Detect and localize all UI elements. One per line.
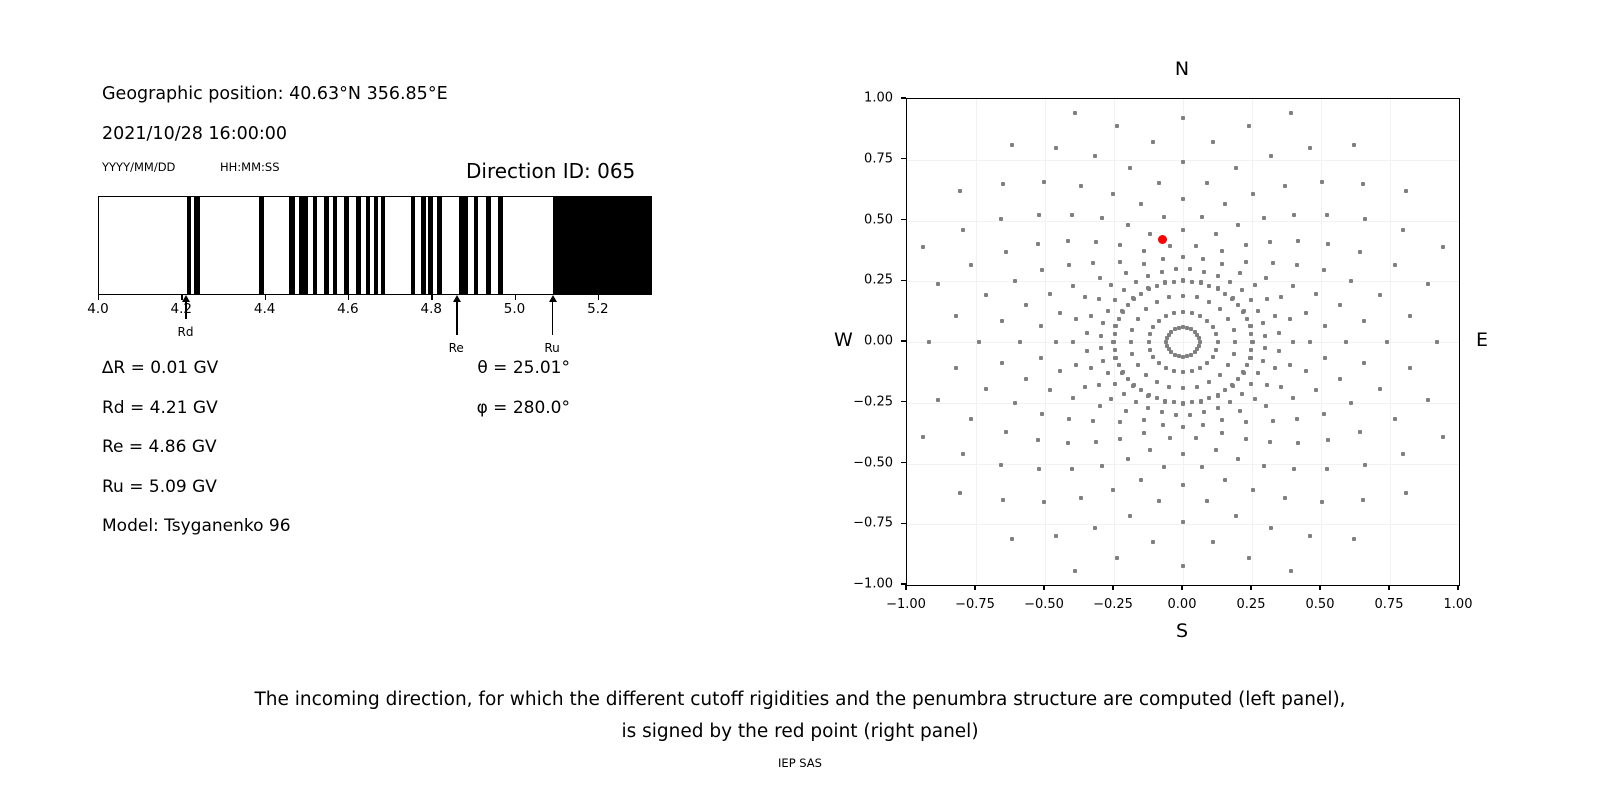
direction-point: [1124, 271, 1128, 275]
direction-point: [1308, 146, 1312, 150]
direction-point: [1085, 349, 1089, 353]
penumbra-band: [324, 197, 329, 294]
direction-point: [1393, 263, 1397, 267]
direction-point: [1004, 430, 1008, 434]
direction-point: [1199, 400, 1203, 404]
direction-point: [1188, 413, 1192, 417]
direction-scatter-plot: [906, 98, 1460, 586]
penumbra-band: [381, 197, 385, 294]
cutoff-marker-label-rd: Rd: [177, 325, 193, 339]
direction-point: [984, 293, 988, 297]
y-axis-tick: [901, 158, 906, 159]
direction-point: [1181, 452, 1185, 456]
direction-point: [1168, 244, 1172, 248]
direction-point: [1134, 400, 1138, 404]
direction-point: [1101, 359, 1105, 363]
direction-point: [958, 491, 962, 495]
direction-point: [1036, 438, 1040, 442]
direction-point: [1128, 514, 1132, 518]
direction-point: [1194, 244, 1198, 248]
y-axis-tick: [901, 401, 906, 402]
direction-point: [1228, 400, 1232, 404]
direction-point: [1352, 537, 1356, 541]
penumbra-band: [356, 197, 361, 294]
direction-point: [1216, 340, 1220, 344]
direction-point: [1256, 371, 1260, 375]
direction-point: [1181, 255, 1185, 259]
direction-point: [1265, 297, 1269, 301]
direction-point: [1181, 564, 1185, 568]
y-axis-tick: [901, 219, 906, 220]
y-axis-tick-label: −0.75: [853, 516, 901, 531]
direction-point: [1190, 369, 1194, 373]
figure-caption: The incoming direction, for which the di…: [0, 684, 1600, 748]
direction-point: [1066, 441, 1070, 445]
direction-point: [969, 417, 973, 421]
y-axis-tick: [901, 280, 906, 281]
direction-point: [1263, 346, 1267, 350]
compass-label-north: N: [1175, 58, 1189, 80]
rigidity-tick-label: 4.6: [337, 301, 358, 317]
direction-point: [1261, 359, 1265, 363]
direction-point: [1136, 317, 1140, 321]
direction-point: [1157, 181, 1161, 185]
direction-point: [1277, 349, 1281, 353]
direction-point: [1231, 296, 1235, 300]
direction-point: [1205, 319, 1209, 323]
direction-point: [1223, 388, 1227, 392]
direction-point: [1100, 216, 1104, 220]
geographic-position-label: Geographic position: 40.63°N 356.85°E: [102, 84, 448, 104]
direction-point: [1185, 354, 1189, 358]
direction-point: [1142, 249, 1146, 253]
angle-parameter-value: φ = 280.0°: [477, 398, 570, 418]
direction-point: [1236, 223, 1240, 227]
direction-point: [1195, 385, 1199, 389]
direction-point: [1001, 182, 1005, 186]
direction-point: [1322, 268, 1326, 272]
direction-point: [1363, 463, 1367, 467]
penumbra-band: [553, 197, 652, 294]
x-axis-tick-label: 1.00: [1444, 590, 1473, 612]
direction-point: [1151, 140, 1155, 144]
grid-line-horizontal: [907, 464, 1459, 465]
direction-point: [1136, 363, 1140, 367]
direction-point: [1211, 355, 1215, 359]
direction-point: [1155, 396, 1159, 400]
direction-point: [1295, 263, 1299, 267]
y-axis-tick: [901, 523, 906, 524]
direction-point: [1000, 361, 1004, 365]
direction-point: [1240, 392, 1244, 396]
direction-point: [1155, 284, 1159, 288]
rigidity-tick: [265, 295, 266, 300]
compass-label-south: S: [1176, 620, 1188, 642]
direction-point: [1251, 340, 1255, 344]
selected-direction-marker: [1158, 235, 1167, 244]
direction-point: [1146, 286, 1150, 290]
direction-point: [1361, 182, 1365, 186]
direction-point: [1139, 478, 1143, 482]
direction-point: [1067, 263, 1071, 267]
direction-point: [1223, 202, 1227, 206]
penumbra-band: [374, 197, 379, 294]
rigidity-tick: [348, 295, 349, 300]
direction-point: [1314, 292, 1318, 296]
rigidity-tick: [431, 295, 432, 300]
rigidity-tick: [98, 295, 99, 300]
direction-point: [1130, 328, 1134, 332]
direction-point: [1249, 348, 1253, 352]
direction-point: [1146, 274, 1150, 278]
direction-point: [1089, 314, 1093, 318]
direction-point: [1216, 286, 1220, 290]
direction-point: [1109, 283, 1113, 287]
direction-point: [1200, 465, 1204, 469]
direction-point: [1118, 420, 1122, 424]
direction-point: [1296, 239, 1300, 243]
cutoff-marker-line-ru: [552, 297, 553, 335]
direction-point: [1207, 396, 1211, 400]
x-axis-tick-label: 0.25: [1237, 590, 1266, 612]
direction-point: [1098, 404, 1102, 408]
direction-point: [1269, 154, 1273, 158]
direction-point: [1228, 280, 1232, 284]
direction-point: [1113, 382, 1117, 386]
direction-point: [1247, 124, 1251, 128]
cutoff-marker-label-re: Re: [449, 341, 464, 355]
direction-point: [1091, 261, 1095, 265]
parameter-value: Re = 4.86 GV: [102, 437, 217, 457]
y-axis-tick-label: 0.50: [864, 212, 901, 227]
x-axis-tick-label: −0.50: [1024, 590, 1064, 612]
direction-point: [1220, 249, 1224, 253]
direction-point: [1408, 314, 1412, 318]
direction-point: [1164, 366, 1168, 370]
penumbra-band: [194, 197, 201, 294]
penumbra-band: [421, 197, 426, 294]
direction-point: [1181, 483, 1185, 487]
direction-point: [1172, 280, 1176, 284]
direction-point: [1157, 361, 1161, 365]
direction-point: [1018, 340, 1022, 344]
angle-parameter-value: θ = 25.01°: [477, 358, 570, 378]
direction-point: [1358, 250, 1362, 254]
direction-point: [999, 217, 1003, 221]
direction-point: [1190, 280, 1194, 284]
direction-point: [1295, 417, 1299, 421]
direction-point: [1181, 386, 1185, 390]
direction-point: [1099, 346, 1103, 350]
direction-point: [1172, 311, 1176, 315]
y-axis-tick-label: 0.00: [864, 334, 901, 349]
direction-point: [1325, 467, 1329, 471]
direction-point: [1128, 166, 1132, 170]
direction-point: [1308, 340, 1312, 344]
direction-point: [1037, 213, 1041, 217]
compass-label-west: W: [834, 329, 853, 351]
y-axis-tick: [901, 97, 906, 98]
direction-point: [1326, 438, 1330, 442]
direction-point: [1344, 340, 1348, 344]
penumbra-band: [187, 197, 191, 294]
direction-point: [1067, 417, 1071, 421]
direction-point: [1205, 499, 1209, 503]
x-axis-tick-label: −1.00: [886, 590, 926, 612]
direction-point: [1269, 526, 1273, 530]
direction-point: [1378, 387, 1382, 391]
direction-point: [1074, 363, 1078, 367]
direction-point: [1181, 278, 1185, 282]
direction-point: [1220, 262, 1224, 266]
direction-point: [1268, 440, 1272, 444]
direction-point: [1251, 488, 1255, 492]
direction-point: [977, 340, 981, 344]
direction-point: [1162, 465, 1166, 469]
direction-point: [1181, 425, 1185, 429]
direction-point: [1181, 355, 1185, 359]
direction-point: [1253, 283, 1257, 287]
direction-point: [1320, 180, 1324, 184]
direction-point: [1048, 292, 1052, 296]
datetime-label: 2021/10/28 16:00:00: [102, 124, 287, 144]
direction-point: [1001, 498, 1005, 502]
direction-point: [1126, 223, 1130, 227]
direction-point: [1279, 385, 1283, 389]
direction-point: [1097, 383, 1101, 387]
direction-point: [1134, 280, 1138, 284]
direction-point: [1160, 410, 1164, 414]
direction-point: [1042, 180, 1046, 184]
direction-point: [1168, 436, 1172, 440]
direction-point: [1118, 243, 1122, 247]
direction-point: [1190, 311, 1194, 315]
y-axis-tick-label: 1.00: [864, 91, 901, 106]
direction-point: [999, 463, 1003, 467]
direction-point: [1273, 314, 1277, 318]
direction-point: [1211, 540, 1215, 544]
direction-point: [1066, 239, 1070, 243]
penumbra-bar-chart: [98, 196, 652, 295]
direction-point: [1249, 382, 1253, 386]
direction-point: [1207, 284, 1211, 288]
direction-point: [1165, 344, 1169, 348]
parameter-value: Model: Tsyganenko 96: [102, 516, 291, 536]
direction-point: [1177, 326, 1181, 330]
direction-point: [1273, 366, 1277, 370]
direction-point: [1426, 282, 1430, 286]
direction-point: [1164, 340, 1168, 344]
cutoff-marker-arrow-ru: [549, 295, 557, 302]
direction-point: [1085, 331, 1089, 335]
direction-point: [1232, 352, 1236, 356]
direction-point: [1155, 300, 1159, 304]
direction-point: [1079, 496, 1083, 500]
direction-point: [1126, 303, 1130, 307]
direction-point: [1161, 423, 1165, 427]
direction-point: [1151, 355, 1155, 359]
direction-point: [1157, 319, 1161, 323]
direction-point: [1262, 216, 1266, 220]
penumbra-band: [428, 197, 433, 294]
direction-point: [1142, 418, 1146, 422]
direction-point: [1083, 385, 1087, 389]
direction-point: [1157, 499, 1161, 503]
direction-point: [1238, 409, 1242, 413]
direction-point: [1010, 537, 1014, 541]
direction-point: [1113, 298, 1117, 302]
direction-point: [1262, 464, 1266, 468]
direction-point: [1129, 340, 1133, 344]
direction-point: [1401, 228, 1405, 232]
direction-point: [1292, 213, 1296, 217]
direction-point: [1118, 437, 1122, 441]
caption-line-1: The incoming direction, for which the di…: [0, 684, 1600, 716]
direction-point: [1167, 347, 1171, 351]
direction-point: [1181, 370, 1185, 374]
direction-point: [921, 435, 925, 439]
direction-point: [1054, 534, 1058, 538]
direction-point: [1244, 260, 1248, 264]
direction-point: [1148, 332, 1152, 336]
direction-point: [1201, 423, 1205, 427]
direction-point: [1173, 353, 1177, 357]
penumbra-band: [289, 197, 294, 294]
direction-point: [1093, 526, 1097, 530]
direction-point: [1122, 392, 1126, 396]
direction-point: [1039, 356, 1043, 360]
direction-point: [1349, 401, 1353, 405]
direction-point: [1139, 292, 1143, 296]
grid-line-horizontal: [907, 524, 1459, 525]
cutoff-marker-arrow-rd: [182, 295, 190, 302]
direction-point: [1338, 303, 1342, 307]
direction-point: [1146, 406, 1150, 410]
direction-point: [1263, 334, 1267, 338]
direction-point: [1291, 396, 1295, 400]
penumbra-band: [437, 197, 442, 294]
direction-point: [954, 314, 958, 318]
footer-credit: IEP SAS: [0, 756, 1600, 770]
direction-point: [1181, 294, 1185, 298]
direction-point: [1155, 380, 1159, 384]
penumbra-band: [333, 197, 338, 294]
direction-point: [1244, 243, 1248, 247]
direction-point: [1148, 348, 1152, 352]
direction-point: [1004, 250, 1008, 254]
direction-point: [1205, 181, 1209, 185]
direction-point: [1073, 569, 1077, 573]
y-axis-tick-label: 0.75: [864, 151, 901, 166]
rigidity-tick-label: 4.0: [87, 301, 108, 317]
direction-point: [1207, 300, 1211, 304]
direction-point: [1131, 384, 1135, 388]
direction-point: [1083, 295, 1087, 299]
direction-point: [1099, 334, 1103, 338]
direction-point: [1323, 324, 1327, 328]
date-format-hint: YYYY/MM/DD: [102, 160, 175, 174]
direction-point: [1291, 284, 1295, 288]
grid-line-horizontal: [907, 221, 1459, 222]
direction-point: [1268, 240, 1272, 244]
direction-point: [1323, 356, 1327, 360]
direction-point: [1249, 332, 1253, 336]
direction-point: [1247, 556, 1251, 560]
direction-point: [1435, 340, 1439, 344]
direction-point: [1242, 309, 1246, 313]
direction-point: [936, 282, 940, 286]
direction-point: [1091, 419, 1095, 423]
direction-point: [1279, 295, 1283, 299]
direction-point: [1163, 280, 1167, 284]
direction-point: [1177, 354, 1181, 358]
direction-point: [1124, 409, 1128, 413]
direction-point: [1094, 240, 1098, 244]
direction-point: [1201, 257, 1205, 261]
direction-point: [1245, 317, 1249, 321]
direction-point: [1172, 400, 1176, 404]
direction-point: [1161, 257, 1165, 261]
y-axis-tick-label: 0.25: [864, 273, 901, 288]
direction-point: [1190, 400, 1194, 404]
direction-point: [1207, 380, 1211, 384]
direction-point: [1216, 394, 1220, 398]
cutoff-marker-line-re: [456, 297, 457, 335]
direction-point: [1148, 232, 1152, 236]
direction-point: [1220, 418, 1224, 422]
direction-point: [1195, 295, 1199, 299]
direction-point: [1441, 245, 1445, 249]
direction-point: [1393, 417, 1397, 421]
direction-point: [1071, 340, 1075, 344]
direction-point: [921, 245, 925, 249]
parameter-value: Ru = 5.09 GV: [102, 477, 217, 497]
direction-point: [1214, 448, 1218, 452]
direction-point: [1216, 274, 1220, 278]
direction-point: [1036, 242, 1040, 246]
compass-label-east: E: [1476, 329, 1488, 351]
direction-point: [1079, 184, 1083, 188]
direction-point: [1098, 276, 1102, 280]
direction-point: [1113, 348, 1117, 352]
direction-point: [1109, 397, 1113, 401]
direction-point: [1089, 366, 1093, 370]
direction-point: [1144, 373, 1148, 377]
direction-point: [1253, 397, 1257, 401]
direction-point: [1240, 288, 1244, 292]
direction-point: [1139, 388, 1143, 392]
direction-point: [1172, 369, 1176, 373]
direction-point: [1181, 160, 1185, 164]
direction-point: [1139, 202, 1143, 206]
direction-point: [1111, 488, 1115, 492]
direction-point: [1223, 292, 1227, 296]
direction-point: [1205, 361, 1209, 365]
direction-point: [1271, 419, 1275, 423]
direction-point: [1097, 297, 1101, 301]
direction-point: [1165, 336, 1169, 340]
direction-point: [1264, 404, 1268, 408]
direction-point: [1244, 420, 1248, 424]
direction-point: [1326, 242, 1330, 246]
cutoff-marker-label-ru: Ru: [544, 341, 559, 355]
direction-point: [1054, 146, 1058, 150]
penumbra-band: [486, 197, 491, 294]
direction-point: [1234, 514, 1238, 518]
direction-point: [1264, 276, 1268, 280]
direction-point: [1218, 373, 1222, 377]
direction-point: [1048, 388, 1052, 392]
